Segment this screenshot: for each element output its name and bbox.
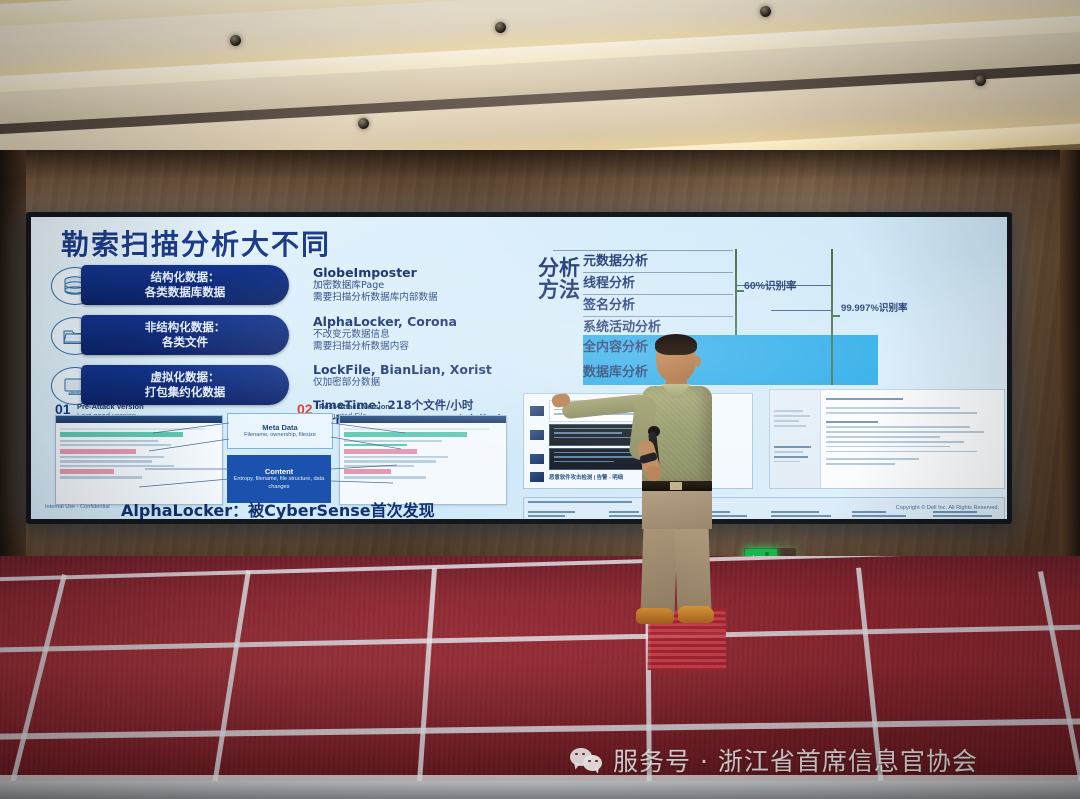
presenter-hair — [655, 334, 697, 355]
presenter-left-shoe — [636, 608, 674, 624]
stage-front-edge — [0, 781, 1080, 799]
led-display-screen: 勒索扫描分析大不同 结构化数据： — [26, 212, 1012, 524]
presenter-right-leg — [674, 523, 711, 616]
data-type-line2: 打包集约化数据 — [145, 385, 226, 400]
presenter — [598, 336, 748, 628]
data-type-list: 结构化数据： 各类数据库数据 非结构化数据： — [51, 265, 291, 415]
vendor-logo-icon — [530, 454, 544, 464]
data-type-pill: 结构化数据： 各类数据库数据 — [81, 265, 289, 305]
vendor-logo-icon — [530, 406, 544, 416]
pre-attack-screenshot — [55, 415, 223, 505]
data-type-row: 非结构化数据： 各类文件 — [51, 315, 291, 357]
presenter-left-leg — [640, 523, 677, 618]
presenter-right-hand — [646, 466, 661, 481]
presenter-ear — [694, 356, 701, 367]
wall-left-edge — [0, 150, 26, 620]
brace-full — [831, 249, 833, 385]
vendor-logo-icon — [530, 430, 544, 440]
detection-rate-basic: 60%识别率 — [744, 278, 797, 293]
downlight-icon — [975, 75, 986, 86]
data-type-line1: 结构化数据： — [151, 270, 220, 285]
ransomware-name: GlobeImposter — [313, 265, 513, 280]
meta-data-subtitle: Filename, ownership, filesize — [244, 432, 316, 439]
ransomware-detail: 加密数据库Page — [313, 280, 513, 292]
dashboard-sidebar — [770, 390, 821, 488]
analysis-methods-list: 元数据分析 线程分析 签名分析 系统活动分析 — [583, 251, 733, 339]
step-title: Pre-Attack Version — [77, 402, 144, 411]
detection-rate-full: 99.997%识别率 — [841, 303, 915, 315]
slide-title: 勒索扫描分析大不同 — [61, 223, 331, 263]
data-type-line1: 非结构化数据： — [145, 320, 226, 335]
presenter-right-shoe — [678, 606, 714, 623]
step-title: Post-Attack Version — [319, 402, 390, 411]
presentation-slide: 勒索扫描分析大不同 结构化数据： — [31, 217, 1007, 519]
watermark: 服务号 · 浙江省首席信息官协会 — [570, 742, 978, 778]
content-subtitle: Entropy, filename, file structure, data … — [227, 476, 331, 491]
footer-classification: Internal Use - Confidential — [45, 504, 110, 510]
wall-right-edge — [1060, 150, 1080, 620]
downlight-icon — [230, 35, 241, 46]
ransomware-detail: 需要扫描分析数据内容 — [313, 341, 513, 353]
analysis-method-item: 元数据分析 — [583, 251, 733, 273]
analysis-methods-label: 分析方法 — [537, 257, 581, 302]
meta-data-box: Meta Data Filename, ownership, filesize — [227, 413, 333, 449]
downlight-icon — [358, 118, 369, 129]
footer-headline: AlphaLocker：被CyberSense首次发现 — [121, 497, 435, 519]
dashboard-panel-right — [769, 389, 1005, 489]
presenter-hips — [642, 489, 712, 529]
wechat-icon — [570, 748, 604, 773]
meta-data-title: Meta Data — [262, 423, 297, 432]
ransomware-entry: AlphaLocker, Corona 不改变元数据信息 需要扫描分析数据内容 — [313, 314, 513, 354]
ransomware-entry: LockFile, BianLian, Xorist 仅加密部分数据 — [313, 362, 513, 389]
analysis-method-item: 签名分析 — [583, 295, 733, 317]
ransomware-name: LockFile, BianLian, Xorist — [313, 362, 513, 377]
data-type-pill: 非结构化数据： 各类文件 — [81, 315, 289, 355]
ransomware-name: AlphaLocker, Corona — [313, 314, 513, 329]
data-type-line2: 各类文件 — [162, 335, 208, 350]
data-type-line2: 各类数据库数据 — [145, 285, 226, 300]
post-attack-screenshot — [339, 415, 507, 505]
ransomware-detail: 仅加密部分数据 — [313, 377, 513, 389]
vendor-logo-icon — [530, 472, 544, 482]
watermark-text: 服务号 · 浙江省首席信息官协会 — [613, 742, 978, 778]
content-title: Content — [265, 467, 293, 476]
footer-copyright: Copyright © Dell Inc. All Rights Reserve… — [896, 505, 999, 511]
ransomware-detail: 需要扫描分析数据库内部数据 — [313, 292, 513, 304]
brace-basic — [735, 249, 737, 335]
analysis-method-item: 线程分析 — [583, 273, 733, 295]
downlight-icon — [495, 22, 506, 33]
content-box: Content Entropy, filename, file structur… — [227, 455, 331, 503]
data-type-row: 结构化数据： 各类数据库数据 — [51, 265, 291, 307]
slide-footer: Internal Use - Confidential AlphaLocker：… — [45, 497, 999, 517]
downlight-icon — [760, 6, 771, 17]
ransomware-entry: GlobeImposter 加密数据库Page 需要扫描分析数据库内部数据 — [313, 265, 513, 305]
conference-stage-photo: 勒索扫描分析大不同 结构化数据： — [0, 0, 1080, 799]
pre-post-attack-diagram: 01 Pre-Attack Version Last good version … — [53, 399, 505, 507]
ransomware-detail: 不改变元数据信息 — [313, 329, 513, 341]
data-type-line1: 虚拟化数据： — [151, 370, 220, 385]
presenter-belt-buckle — [670, 482, 682, 490]
